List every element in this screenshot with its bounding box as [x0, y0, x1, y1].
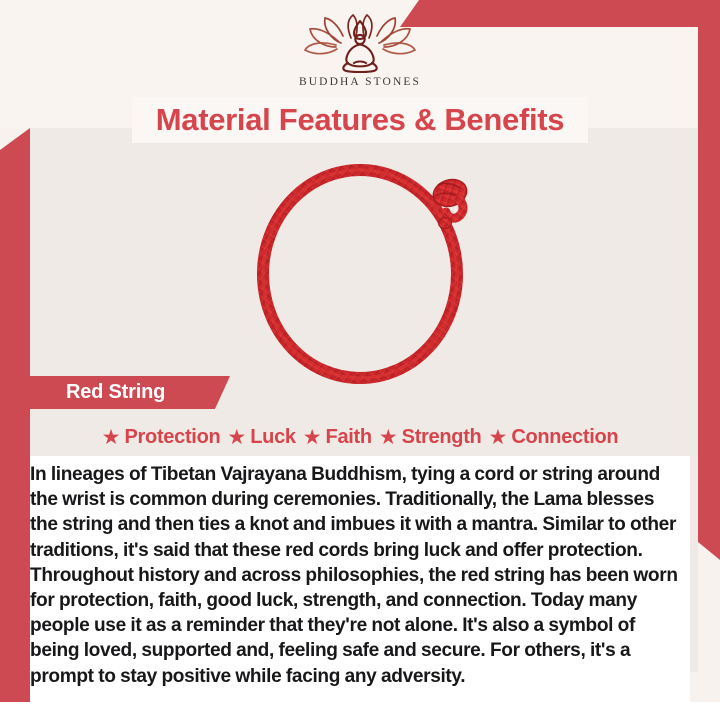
star-icon: ★ — [303, 427, 322, 448]
feature-label-protection: Protection — [125, 426, 221, 449]
infographic-page: BUDDHA STONES Material Features & Benefi… — [0, 0, 720, 720]
star-icon: ★ — [227, 427, 246, 448]
feature-list: ★ Protection ★ Luck ★ Faith ★ Strength ★… — [30, 419, 690, 455]
feature-label-strength: Strength — [402, 426, 482, 449]
brand-name: BUDDHA STONES — [0, 76, 720, 88]
feature-label-faith: Faith — [326, 426, 372, 449]
product-label-banner: Red String — [30, 376, 230, 409]
page-title-banner: Material Features & Benefits — [132, 97, 588, 143]
lotus-meditation-icon — [296, 14, 424, 74]
bottom-white-strip — [0, 702, 720, 720]
feature-label-connection: Connection — [511, 426, 618, 449]
star-icon: ★ — [379, 427, 398, 448]
red-string-bracelet-icon — [232, 155, 492, 390]
feature-item-luck: ★ Luck — [227, 426, 295, 449]
feature-label-luck: Luck — [250, 426, 295, 449]
product-bracelet-image — [232, 155, 492, 390]
page-title: Material Features & Benefits — [156, 102, 565, 138]
feature-item-connection: ★ Connection — [488, 426, 618, 449]
description-text: In lineages of Tibetan Vajrayana Buddhis… — [30, 456, 690, 689]
feature-item-strength: ★ Strength — [379, 426, 482, 449]
product-label: Red String — [66, 381, 165, 404]
description-panel: In lineages of Tibetan Vajrayana Buddhis… — [30, 456, 690, 703]
brand-logo: BUDDHA STONES — [0, 14, 720, 88]
product-image-area — [0, 145, 720, 395]
star-icon: ★ — [102, 427, 121, 448]
feature-item-faith: ★ Faith — [303, 426, 372, 449]
star-icon: ★ — [488, 427, 507, 448]
feature-item-protection: ★ Protection — [102, 426, 221, 449]
